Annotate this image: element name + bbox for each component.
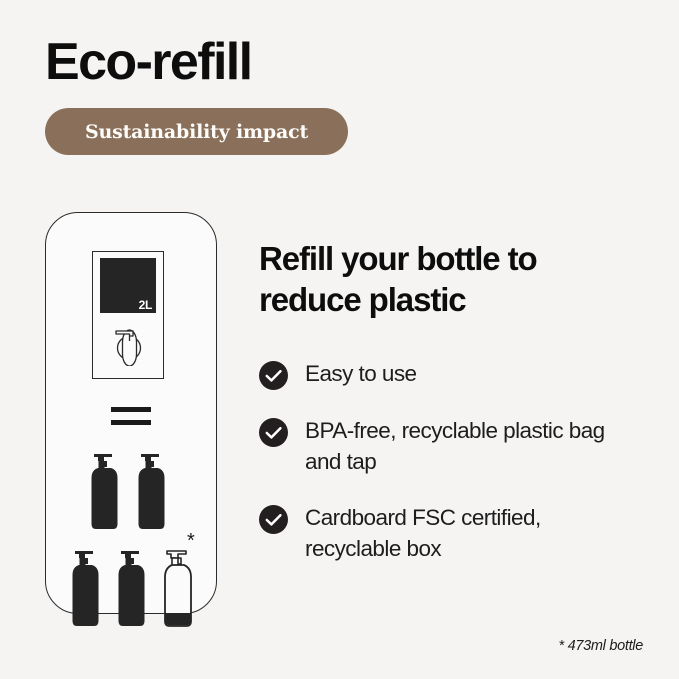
- bottle-row-two: [86, 444, 170, 530]
- check-circle-icon: [259, 505, 288, 534]
- pump-bottle-icon: [86, 444, 123, 530]
- feature-label: Cardboard FSC certified, recyclable box: [305, 502, 635, 564]
- feature-label: BPA-free, recyclable plastic bag and tap: [305, 415, 635, 477]
- list-item: Cardboard FSC certified, recyclable box: [259, 502, 659, 564]
- refill-box-illustration: 2L: [92, 251, 164, 379]
- tap-spout-icon: [111, 324, 147, 366]
- refill-bag-icon: 2L: [100, 258, 156, 313]
- pump-bottle-icon: [113, 541, 150, 627]
- footnote-text: * 473ml bottle: [559, 638, 643, 654]
- check-circle-icon: [259, 418, 288, 447]
- page-title: Eco-refill: [45, 33, 252, 91]
- status-badge-label: Sustainability impact: [85, 121, 308, 143]
- eco-refill-diagram-panel: 2L: [45, 212, 217, 614]
- list-item: BPA-free, recyclable plastic bag and tap: [259, 415, 659, 477]
- equals-bar-bottom: [111, 420, 151, 425]
- page-headline: Refill your bottle to reduce plastic: [259, 238, 619, 320]
- refill-volume-label: 2L: [139, 298, 152, 312]
- pump-bottle-outline-icon: [159, 541, 197, 627]
- equals-bar-top: [111, 407, 151, 412]
- equals-sign-icon: [111, 407, 151, 429]
- check-circle-icon: [259, 361, 288, 390]
- pump-bottle-icon: [67, 541, 104, 627]
- bottle-row-three: [67, 541, 197, 627]
- poster-canvas: Eco-refill Sustainability impact 2L: [0, 0, 679, 679]
- footnote-asterisk-marker: *: [187, 531, 195, 551]
- status-badge: Sustainability impact: [45, 108, 348, 155]
- feature-label: Easy to use: [305, 358, 417, 389]
- list-item: Easy to use: [259, 358, 659, 390]
- pump-bottle-icon: [133, 444, 170, 530]
- feature-list: Easy to use BPA-free, recyclable plastic…: [259, 358, 659, 589]
